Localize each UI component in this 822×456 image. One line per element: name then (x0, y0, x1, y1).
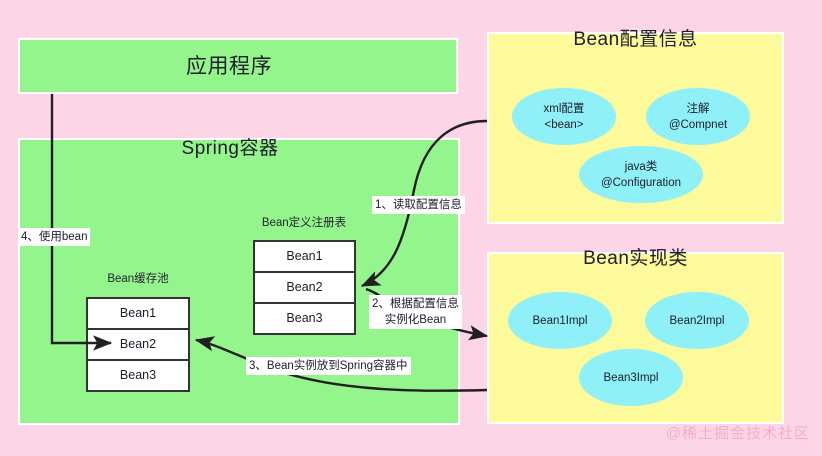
step-label-put-to-container: 3、Bean实例放到Spring容器中 (246, 357, 411, 375)
config-node-xml: xml配置 <bean> (512, 88, 616, 145)
step-label-instantiate-bean: 2、根据配置信息 实例化Bean (369, 295, 462, 329)
step-label-use-bean: 4、使用bean (18, 228, 90, 246)
config-node-annotation-line1: 注解 (687, 101, 710, 117)
impl-node-bean2: Bean2Impl (645, 292, 749, 349)
bean-cache-table: Bean1 Bean2 Bean3 (86, 297, 190, 392)
config-node-annotation: 注解 @Compnet (646, 88, 750, 145)
watermark: @稀土掘金技术社区 (666, 422, 810, 443)
step-label-read-config: 1、读取配置信息 (372, 196, 465, 214)
bean-impl-title: Bean实现类 (487, 243, 784, 270)
step-label-instantiate-bean-line2: 实例化Bean (372, 312, 459, 328)
impl-node-bean3-label: Bean3Impl (604, 370, 659, 386)
step-label-instantiate-bean-line1: 2、根据配置信息 (372, 296, 459, 312)
config-node-javaclass: java类 @Configuration (579, 146, 703, 203)
bean-registry-caption: Bean定义注册表 (253, 214, 355, 230)
diagram-canvas: 应用程序 Spring容器 Bean配置信息 Bean实现类 Bean定义注册表… (0, 0, 822, 456)
table-row: Bean2 (255, 273, 354, 304)
table-row: Bean1 (255, 242, 354, 273)
config-node-xml-line2: <bean> (544, 117, 583, 133)
spring-container-title: Spring容器 (0, 133, 460, 160)
bean-cache-caption: Bean缓存池 (86, 270, 190, 286)
config-node-javaclass-line1: java类 (625, 159, 658, 175)
impl-node-bean3: Bean3Impl (579, 349, 683, 406)
table-row: Bean2 (88, 330, 188, 361)
impl-node-bean1-label: Bean1Impl (533, 313, 588, 329)
config-node-xml-line1: xml配置 (544, 101, 585, 117)
table-row: Bean3 (88, 361, 188, 392)
bean-config-title: Bean配置信息 (487, 24, 784, 51)
spring-container-panel (18, 138, 460, 425)
table-row: Bean3 (255, 304, 354, 335)
bean-registry-table: Bean1 Bean2 Bean3 (253, 240, 356, 335)
table-row: Bean1 (88, 299, 188, 330)
config-node-annotation-line2: @Compnet (669, 117, 727, 133)
config-node-javaclass-line2: @Configuration (601, 175, 681, 191)
application-panel-title: 应用程序 (0, 50, 458, 80)
impl-node-bean2-label: Bean2Impl (670, 313, 725, 329)
impl-node-bean1: Bean1Impl (508, 292, 612, 349)
